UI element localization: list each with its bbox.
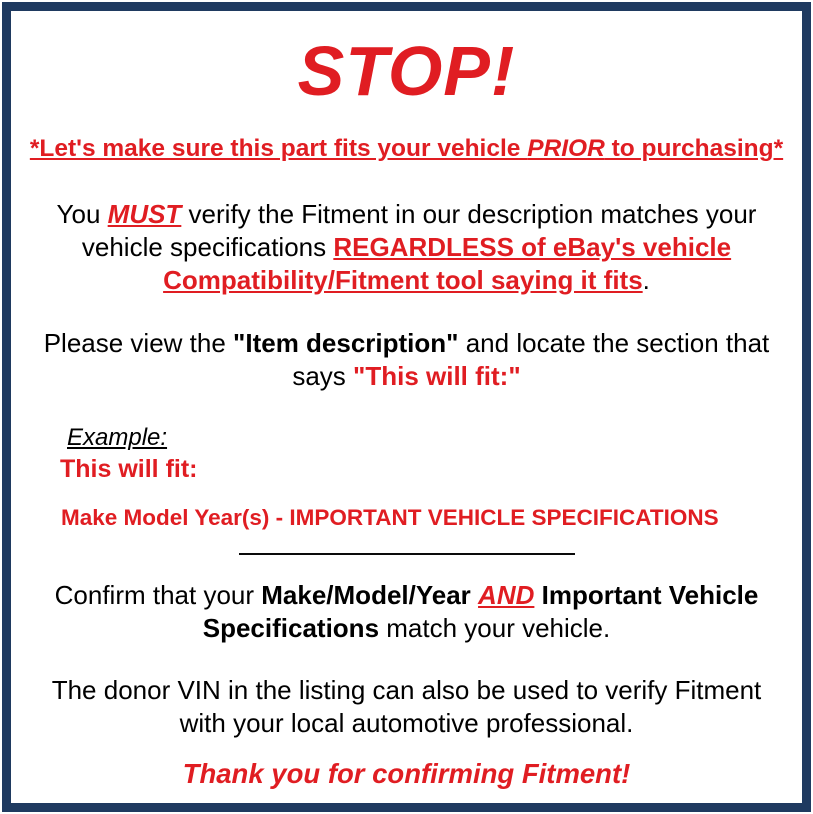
thanks-line: Thank you for confirming Fitment! [22, 740, 791, 791]
confirm-part2: match your vehicle. [379, 613, 610, 643]
this-will-fit-emphasis: "This will fit:" [353, 361, 521, 391]
confirm-part1: Confirm that your [55, 580, 262, 610]
fitment-notice-frame: STOP! *Let's make sure this part fits yo… [2, 2, 811, 812]
item-description-part1: Please view the [44, 328, 233, 358]
confirm-space2 [534, 580, 541, 610]
stop-title: STOP! [22, 15, 791, 108]
verify-headline: *Let's make sure this part fits your veh… [22, 108, 791, 164]
headline-prefix-text: *Let's make sure this part fits your veh… [30, 135, 527, 162]
must-emphasis: MUST [108, 199, 182, 229]
confirm-space1 [471, 580, 478, 610]
headline-prior-emphasis: PRIOR [527, 135, 605, 162]
item-description-emphasis: "Item description" [233, 328, 458, 358]
example-block: Example: This will fit: Make Model Year(… [22, 393, 791, 531]
example-label: Example: [22, 424, 791, 452]
must-paragraph-part1: You [57, 199, 108, 229]
item-description-paragraph: Please view the "Item description" and l… [22, 297, 791, 393]
example-spec-line-text: Make Model Year(s) - IMPORTANT VEHICLE S… [61, 505, 719, 530]
example-fit-line-text: This will fit: [60, 455, 198, 483]
example-spec-line: Make Model Year(s) - IMPORTANT VEHICLE S… [22, 484, 791, 531]
must-paragraph-part3: . [643, 265, 650, 295]
vin-paragraph: The donor VIN in the listing can also be… [22, 645, 791, 740]
confirm-paragraph: Confirm that your Make/Model/Year AND Im… [22, 555, 791, 645]
example-fit-line: This will fit: [22, 452, 791, 484]
headline-suffix-text: to purchasing* [605, 135, 783, 162]
must-verify-paragraph: You MUST verify the Fitment in our descr… [22, 164, 791, 297]
make-model-year-emphasis: Make/Model/Year [261, 580, 471, 610]
example-label-text: Example: [67, 424, 167, 451]
and-emphasis: AND [478, 580, 534, 610]
fitment-notice-body: STOP! *Let's make sure this part fits yo… [11, 11, 802, 803]
